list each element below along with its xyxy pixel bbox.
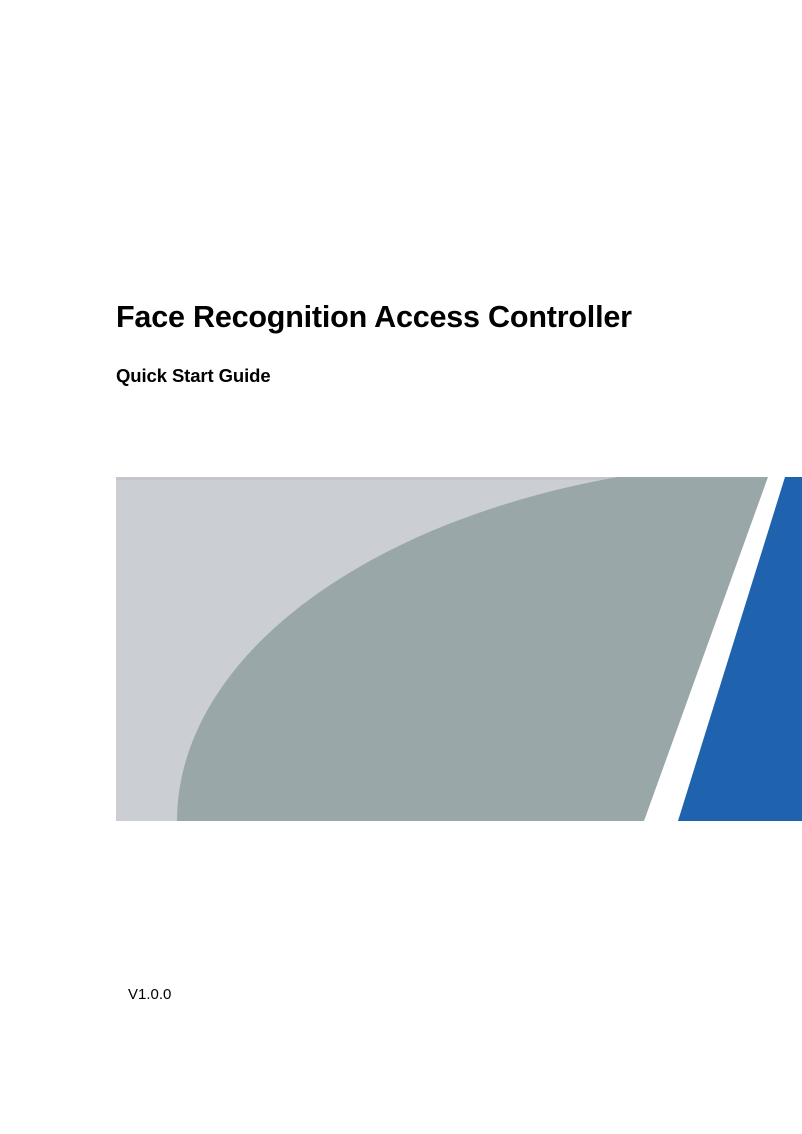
page-subtitle: Quick Start Guide — [116, 336, 756, 387]
version-block: V1.0.0 — [128, 986, 171, 1004]
page-title: Face Recognition Access Controller — [116, 300, 756, 336]
cover-banner-svg — [116, 477, 802, 821]
title-block: Face Recognition Access Controller Quick… — [116, 300, 756, 387]
version-label: V1.0.0 — [128, 986, 171, 1004]
cover-banner-graphic — [116, 477, 802, 821]
cover-page: Face Recognition Access Controller Quick… — [0, 0, 802, 1134]
